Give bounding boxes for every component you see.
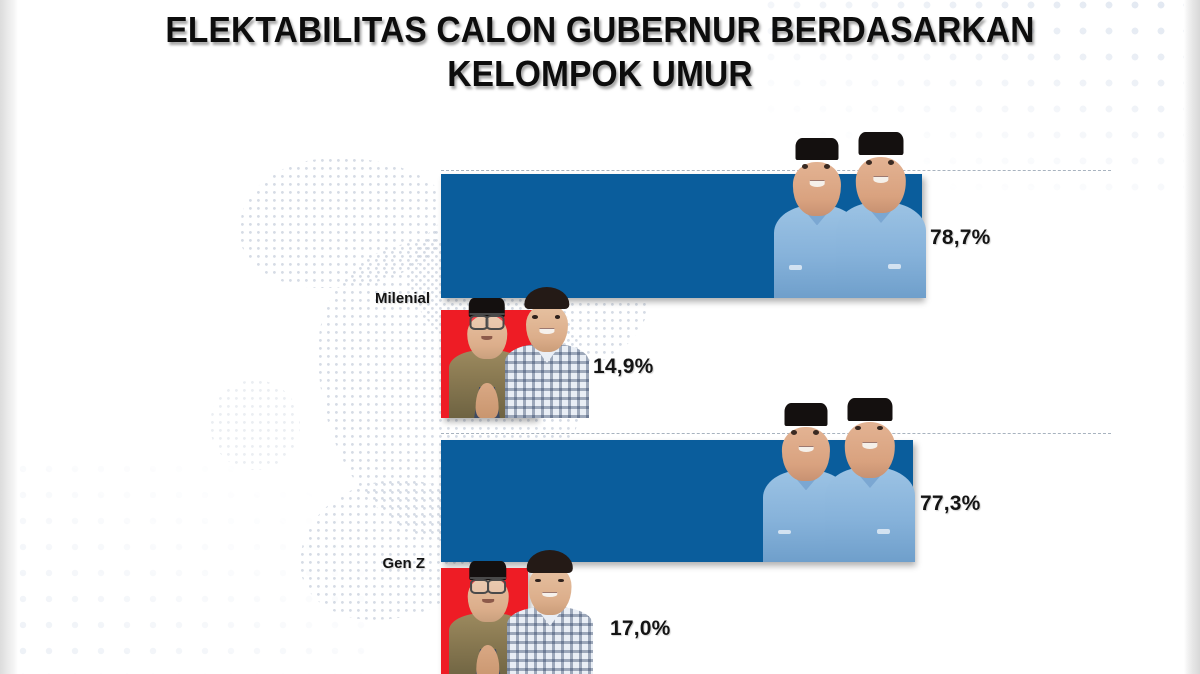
bar-value-milenial-biru: 78,7% (930, 226, 991, 250)
checkered-shirt (505, 344, 589, 418)
shirt-badge (778, 530, 790, 535)
hair (524, 287, 569, 309)
shirt-badge (888, 264, 901, 269)
candidate-photo-person (825, 409, 915, 562)
peci-cap-icon (796, 138, 839, 160)
bar-value-milenial-merah: 14,9% (593, 355, 654, 379)
bar-milenial-merah[interactable] (441, 310, 536, 418)
candidate-photo-person (836, 143, 926, 298)
checkered-shirt (507, 607, 593, 674)
candidate-photo-merah (449, 290, 589, 418)
eye (555, 315, 561, 319)
candidate-photo-merah (449, 558, 594, 674)
bar-milenial-biru[interactable] (441, 174, 922, 298)
bar-value-genz-biru: 77,3% (920, 492, 981, 516)
face (529, 565, 572, 615)
face (845, 422, 895, 478)
shirt (825, 467, 915, 562)
candidate-photo-person-young (507, 558, 593, 674)
glasses-icon (470, 577, 506, 589)
mouth (799, 446, 814, 453)
mouth (539, 328, 554, 334)
eye (535, 579, 541, 583)
mouth (482, 599, 494, 603)
glasses-icon (470, 313, 505, 326)
eye (532, 315, 538, 319)
eye (813, 430, 819, 435)
peci-cap-icon (785, 403, 828, 425)
mouth (862, 442, 877, 449)
shirt-badge (877, 529, 890, 534)
category-label-genz: Gen Z (300, 555, 425, 572)
bar-genz-biru[interactable] (441, 440, 913, 562)
face (856, 157, 906, 213)
face (793, 162, 841, 215)
bar-genz-merah[interactable] (441, 568, 528, 674)
category-label-milenial: Milenial (300, 290, 430, 307)
eye (824, 164, 830, 169)
bar-value-genz-merah: 17,0% (610, 617, 671, 641)
face (782, 427, 830, 480)
candidate-photo-biru (774, 138, 934, 298)
candidate-photo-biru (763, 404, 923, 562)
mouth (810, 180, 825, 187)
peci-cap-icon (859, 132, 904, 155)
shirt (836, 202, 926, 298)
shirt-badge (789, 265, 801, 270)
candidate-photo-person-young (505, 294, 589, 418)
peci-cap-icon (848, 398, 893, 421)
slide-canvas: ELEKTABILITAS CALON GUBERNUR BERDASARKAN… (0, 0, 1200, 674)
eye (866, 160, 872, 165)
horizontal-bar-chart: Milenial (0, 0, 1200, 674)
